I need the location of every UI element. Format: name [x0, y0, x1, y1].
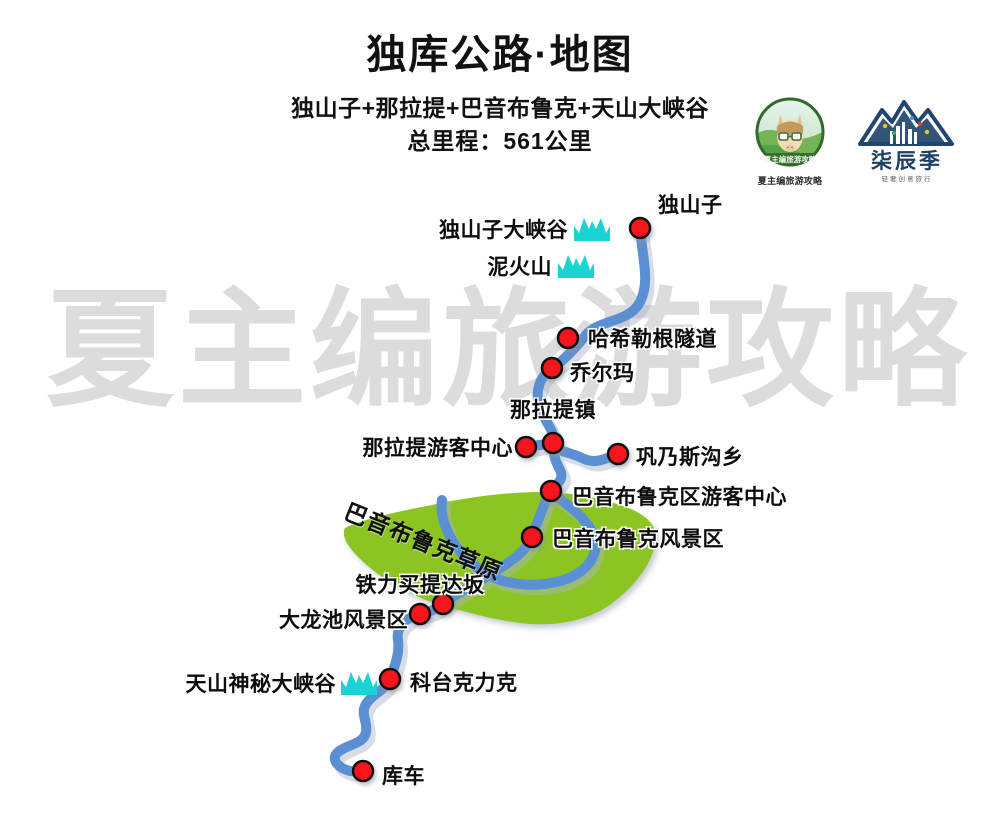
- stop-marker-dalongchi[interactable]: [410, 604, 430, 624]
- stop-label-dalongchi: 大龙池风景区: [279, 604, 408, 634]
- page-title: 独库公路·地图: [0, 22, 1000, 80]
- logo-qichenji-subcaption: 轻奢创意旅行: [848, 173, 966, 183]
- peak-label-dushanzi-canyon: 独山子大峡谷: [439, 214, 568, 244]
- stop-label-gongnaisi: 巩乃斯沟乡: [636, 441, 744, 471]
- peak-label-mud-volcano: 泥火山: [488, 251, 553, 281]
- stop-marker-dushanzi[interactable]: [630, 218, 650, 238]
- stop-marker-qiaoerma[interactable]: [542, 358, 562, 378]
- mountain-peak-icon: [340, 670, 378, 696]
- mountain-peaks-logo: [852, 96, 962, 146]
- horse-mascot-circle-logo: 夏主编旅游攻略: [754, 96, 826, 168]
- stop-label-nalati-center: 那拉提游客中心: [363, 432, 514, 462]
- logo-inner-text: 夏主编旅游攻略: [763, 154, 817, 164]
- stop-label-bayin-scenic: 巴音布鲁克风景区: [552, 523, 724, 553]
- mountain-peak-icon: [557, 253, 595, 279]
- stop-label-nalati-zhen: 那拉提镇: [510, 394, 596, 424]
- stop-marker-kuche[interactable]: [353, 761, 373, 781]
- stop-label-haxilegen: 哈希勒根隧道: [588, 323, 717, 353]
- stop-marker-haxilegen[interactable]: [558, 328, 578, 348]
- stop-marker-nalati-center[interactable]: [516, 437, 536, 457]
- mountain-peak-icon: [573, 216, 611, 242]
- stop-label-qiaoerma: 乔尔玛: [570, 357, 635, 387]
- logo-xiazhubian-caption: 夏主编旅游攻略: [744, 174, 836, 187]
- page-header: 独库公路·地图 独山子+那拉提+巴音布鲁克+天山大峡谷 总里程：561公里: [0, 0, 1000, 190]
- stop-marker-ketaikelike[interactable]: [380, 669, 400, 689]
- logo-xiazhubian: 夏主编旅游攻略 夏主编旅游攻略: [744, 96, 836, 187]
- logo-group: 夏主编旅游攻略 夏主编旅游攻略: [744, 96, 974, 188]
- stop-marker-bayin-center[interactable]: [541, 481, 561, 501]
- stop-marker-nalati-zhen[interactable]: [543, 433, 563, 453]
- peak-label-tianshan-canyon: 天山神秘大峡谷: [186, 668, 337, 698]
- stop-label-ketaikelike: 科台克力克: [410, 667, 518, 697]
- stop-marker-gongnaisi[interactable]: [608, 444, 628, 464]
- stop-label-dushanzi: 独山子: [658, 189, 723, 219]
- stop-label-bayin-center: 巴音布鲁克区游客中心: [572, 481, 787, 511]
- logo-qichenji-wordmark: 柒辰季: [848, 151, 966, 173]
- stop-label-kuche: 库车: [382, 760, 425, 790]
- stop-marker-bayin-scenic[interactable]: [522, 527, 542, 547]
- logo-qichenji: 柒辰季 轻奢创意旅行: [848, 96, 966, 183]
